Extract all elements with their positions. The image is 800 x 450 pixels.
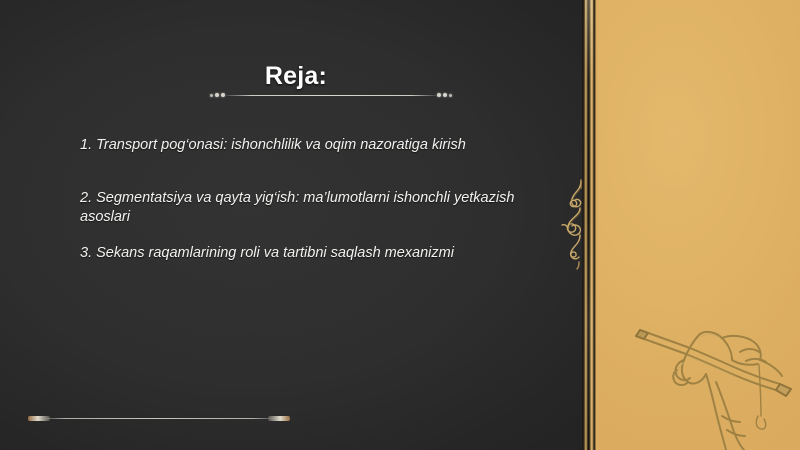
bottom-divider	[28, 414, 290, 424]
bottom-divider-line	[42, 418, 276, 419]
title-divider-line	[226, 95, 436, 96]
hand-holding-pen-icon	[628, 312, 800, 450]
bottom-divider-right-cap	[268, 416, 290, 421]
title-divider-right-dots	[437, 93, 452, 97]
slide-title: Reja:	[0, 62, 592, 91]
agenda-item-1: 1. Transport pog‘onasi: ishonchlilik va …	[80, 136, 550, 156]
agenda-list: 1. Transport pog‘onasi: ishonchlilik va …	[80, 136, 550, 263]
title-divider-left-dots	[210, 93, 225, 97]
presentation-slide: Reja: 1. Transport pog‘onasi: ishonchlil…	[0, 0, 800, 450]
agenda-item-2: 2. Segmentatsiya va qayta yig‘ish: ma’lu…	[80, 189, 550, 228]
title-divider	[210, 90, 452, 102]
scroll-flourish-icon	[560, 178, 594, 270]
agenda-item-3: 3. Sekans raqamlarining roli va tartibni…	[80, 244, 550, 264]
